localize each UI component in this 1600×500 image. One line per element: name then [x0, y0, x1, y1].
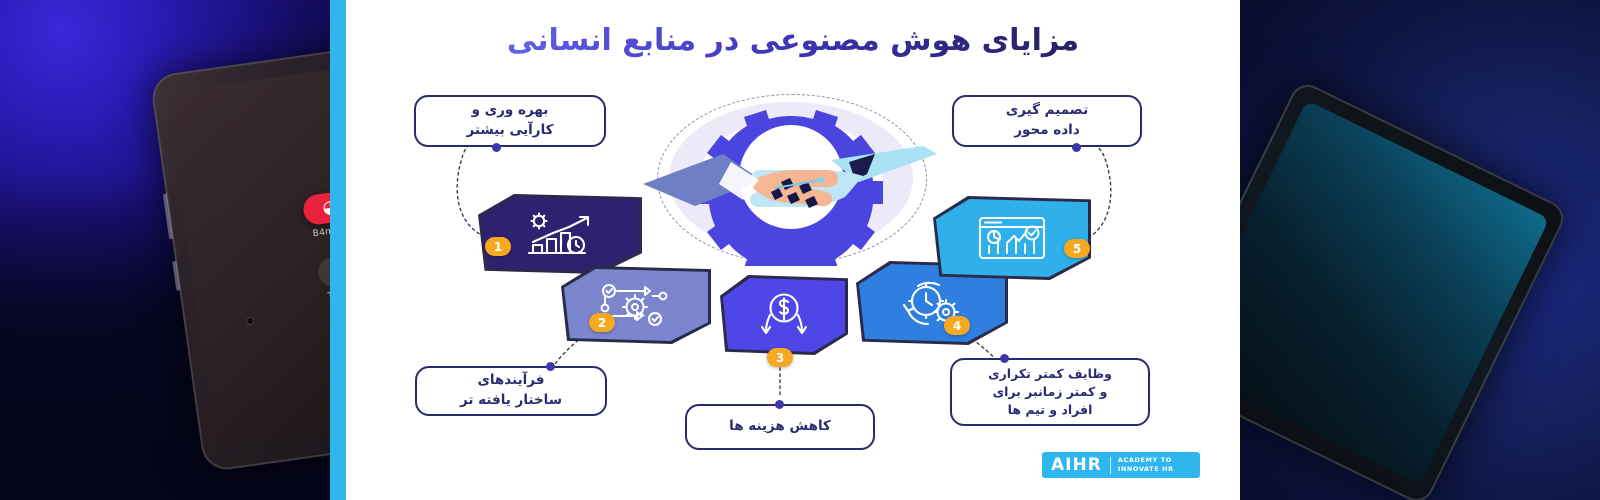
callout-data-driven-decisions-text: تصمیم گیری داده محور	[1006, 101, 1088, 140]
analytics-dashboard-icon	[975, 213, 1049, 263]
callout-less-repetitive-tasks-text: وظایف کمتر تکراری و کمتر زمانبر برای افر…	[988, 365, 1112, 419]
callout-productivity-dot	[492, 143, 501, 152]
badge-3: 3	[767, 348, 793, 367]
callout-line: و کمتر زمانبر برای	[988, 383, 1112, 401]
hex-tile-2[interactable]	[564, 269, 708, 341]
callout-line: کارآیی بیشتر	[467, 121, 554, 141]
hex-tile-3[interactable]	[723, 278, 845, 352]
productivity-growth-icon	[523, 211, 597, 257]
callout-data-driven-decisions[interactable]: تصمیم گیری داده محور	[952, 95, 1142, 147]
aihr-logo-mark: AIHR	[1042, 455, 1110, 475]
aihr-logo[interactable]: AIHR ACADEMY TO INNOVATE HR	[1042, 452, 1200, 478]
callout-line: ساختار یافته تر	[460, 391, 562, 411]
badge-1: 1	[485, 237, 511, 256]
callout-line: کاهش هزینه ها	[729, 417, 831, 437]
callout-structured-processes-text: فرآیندهای ساختار یافته تر	[460, 371, 562, 410]
callout-line: داده محور	[1006, 121, 1088, 141]
callout-less-repetitive-tasks-dot	[1000, 354, 1009, 363]
callout-line: فرآیندهای	[460, 371, 562, 391]
hex-tile-5[interactable]	[936, 199, 1088, 277]
aihr-logo-tagline: ACADEMY TO INNOVATE HR	[1111, 456, 1174, 474]
cost-reduction-dollar-icon	[754, 291, 814, 339]
cyan-divider-bar	[330, 0, 346, 500]
callout-productivity[interactable]: بهره وری و کارآیی بیشتر	[414, 95, 606, 147]
callout-cost-reduction-text: کاهش هزینه ها	[729, 417, 831, 437]
center-artwork	[635, 88, 945, 266]
callout-line: وظایف کمتر تکراری	[988, 365, 1112, 383]
handshake-in-gear-icon	[635, 88, 945, 266]
aihr-tagline-line-2: INNOVATE HR	[1118, 465, 1174, 473]
callout-line: تصمیم گیری	[1006, 101, 1088, 121]
callout-cost-reduction-dot	[775, 400, 784, 409]
infographic-stage: ◕ B4m ⏱ Tir H مزایای هوش مصنوعی در منابع…	[0, 0, 1600, 500]
badge-4: 4	[944, 316, 970, 335]
callout-structured-processes[interactable]: فرآیندهای ساختار یافته تر	[415, 366, 607, 416]
callout-structured-processes-dot	[546, 362, 555, 371]
callout-cost-reduction[interactable]: کاهش هزینه ها	[685, 404, 875, 450]
callout-data-driven-decisions-dot	[1072, 143, 1081, 152]
aihr-tagline-line-1: ACADEMY TO	[1118, 456, 1172, 464]
hex-tile-1[interactable]	[481, 197, 639, 271]
callout-less-repetitive-tasks[interactable]: وظایف کمتر تکراری و کمتر زمانبر برای افر…	[950, 358, 1150, 426]
badge-5: 5	[1064, 239, 1090, 258]
callout-productivity-text: بهره وری و کارآیی بیشتر	[467, 101, 554, 140]
page-title: مزایای هوش مصنوعی در منابع انسانی	[346, 22, 1240, 60]
callout-line: افراد و تیم ها	[988, 401, 1112, 419]
badge-2: 2	[589, 313, 615, 332]
callout-line: بهره وری و	[467, 101, 554, 121]
